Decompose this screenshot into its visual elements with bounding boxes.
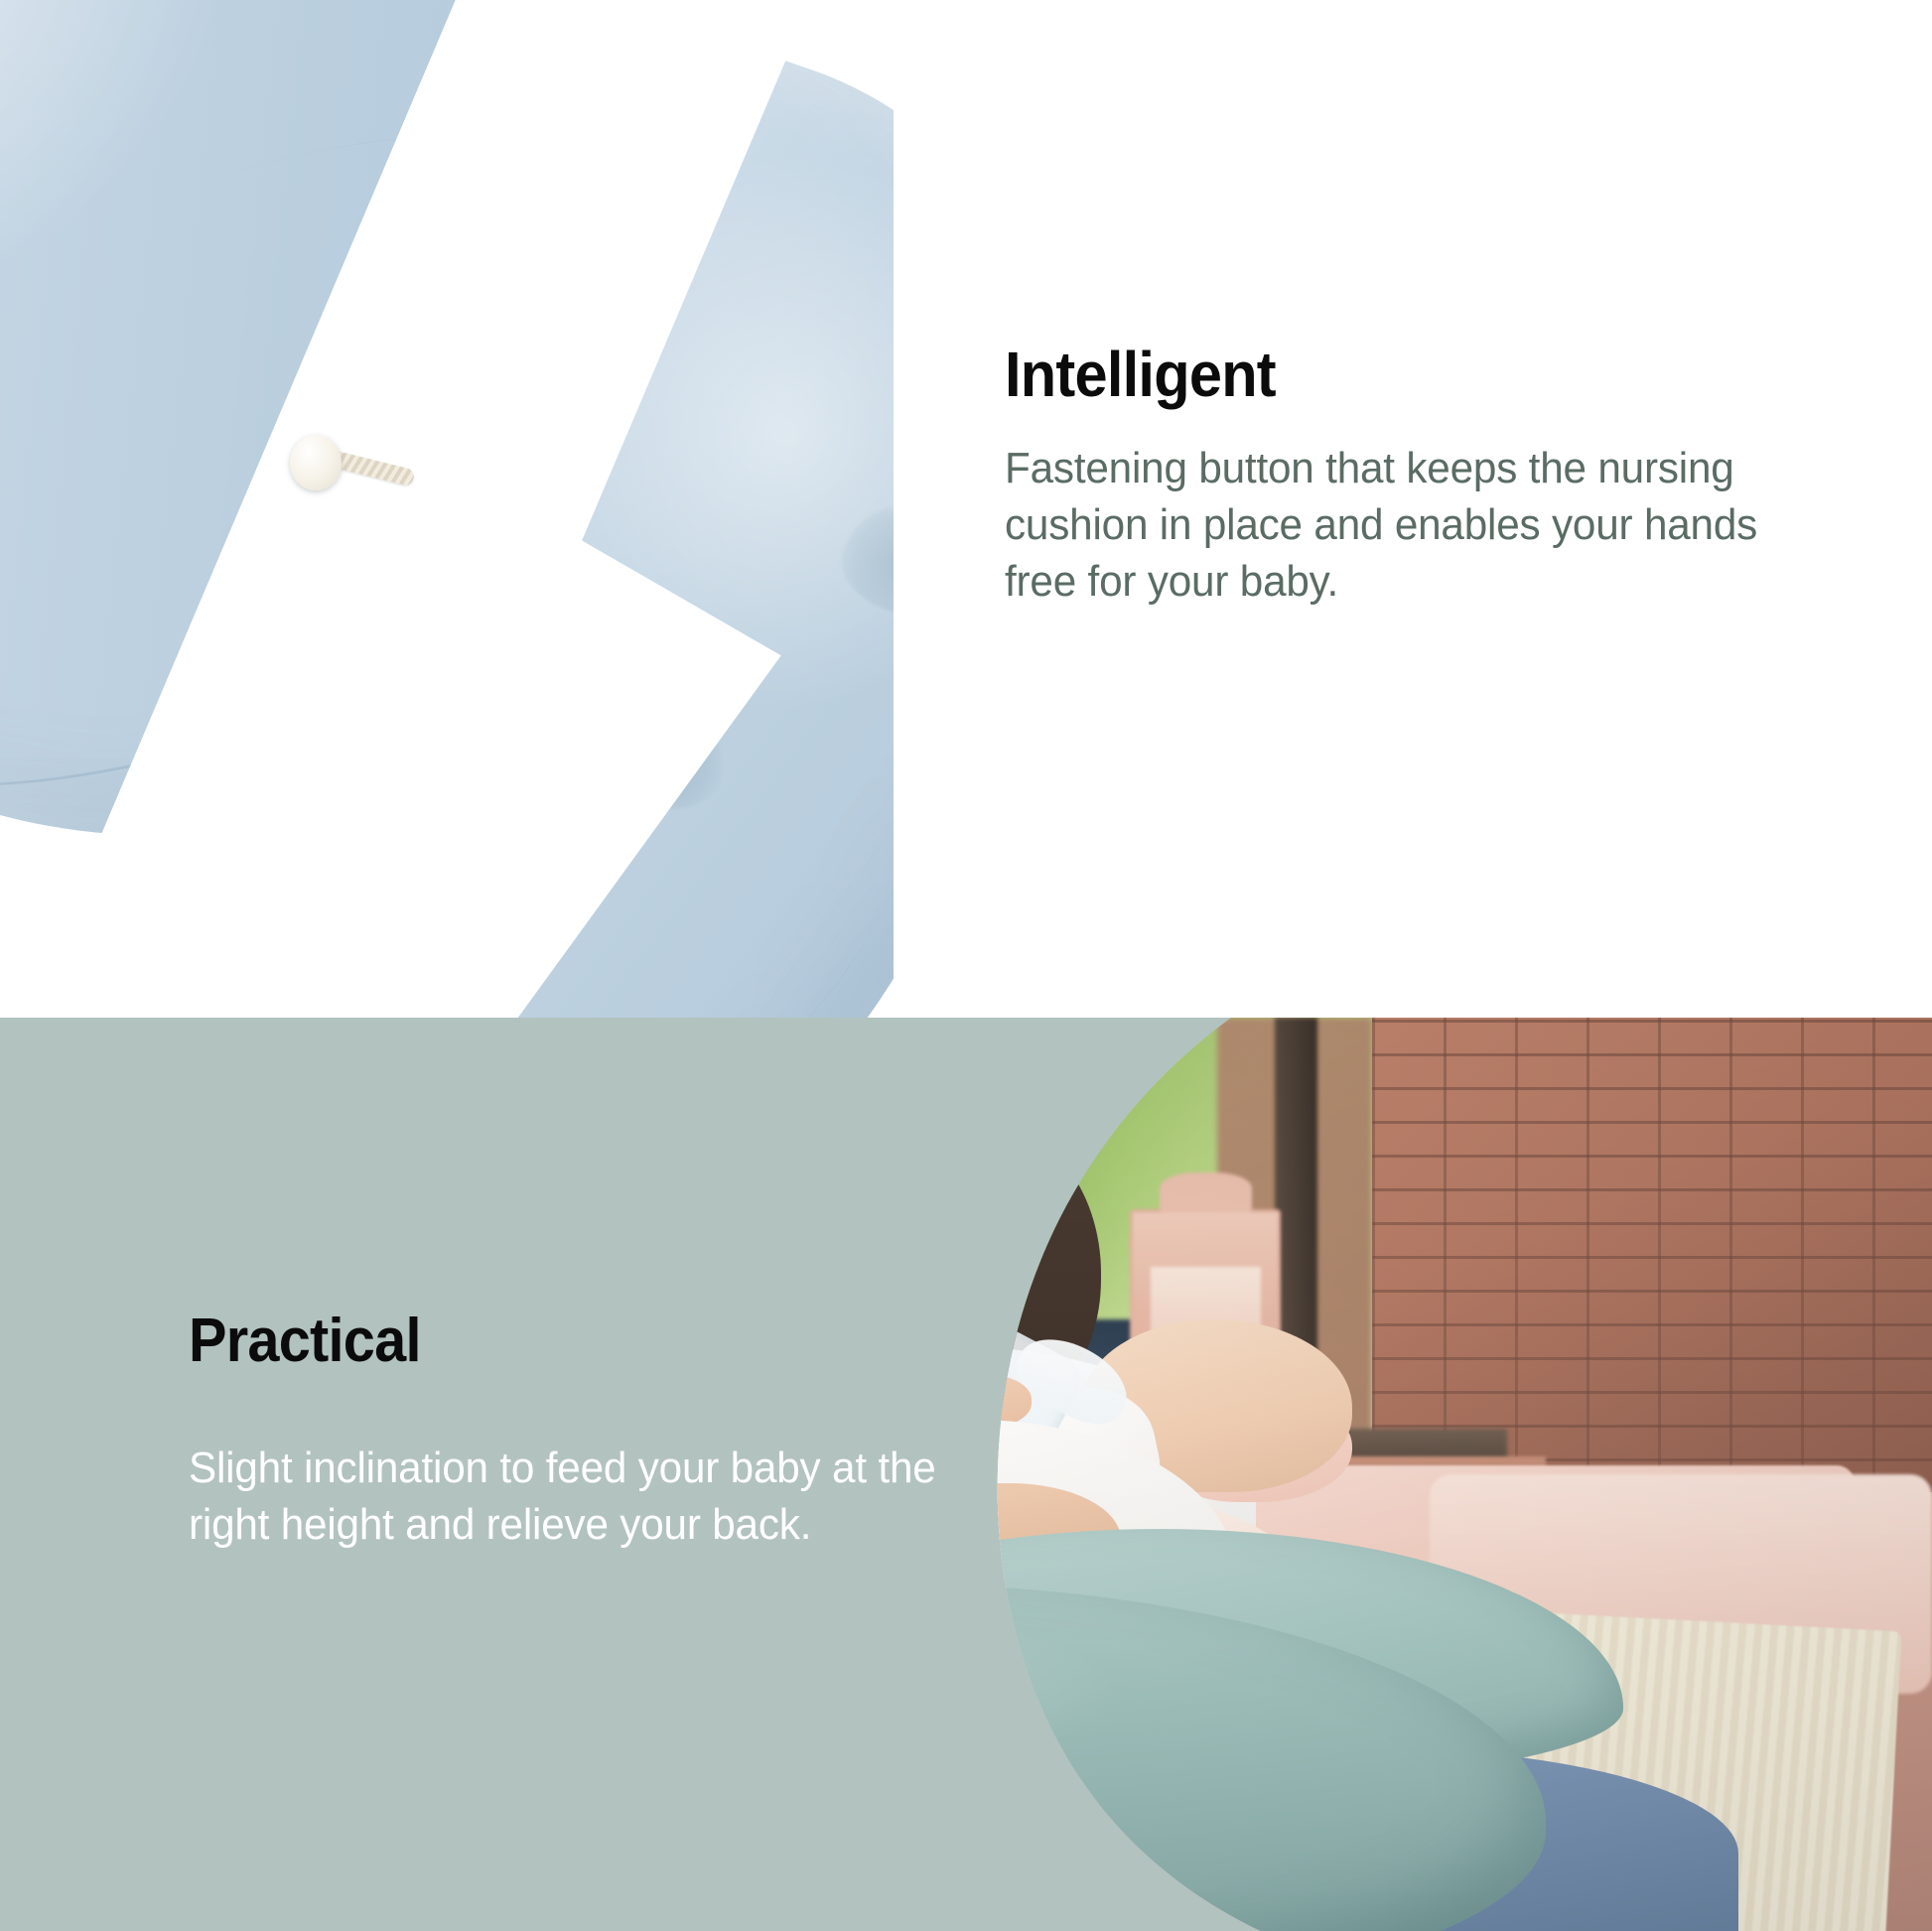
baby-foot [599, 1629, 695, 1684]
intelligent-body-text: Fastening button that keeps the nursing … [1005, 440, 1757, 611]
fastening-button-assembly [290, 435, 419, 492]
mother-leg [270, 1858, 889, 1931]
intelligent-heading: Intelligent [1005, 343, 1734, 406]
nursing-cushion-fastening-button-closeup-image [0, 0, 894, 1018]
baby-legs [637, 1584, 946, 1703]
nursing-cushion-seam [283, 1903, 1135, 1931]
fastening-button [290, 435, 342, 490]
product-feature-page: Intelligent Fastening button that keeps … [0, 0, 1932, 1931]
textured-sofa-seat [0, 1620, 772, 1821]
nursing-cushion-end-nub [87, 1712, 261, 1849]
practical-heading: Practical [189, 1310, 927, 1372]
practical-text-block: Practical Slight inclination to feed you… [189, 1310, 983, 1553]
intelligent-text-block: Intelligent Fastening button that keeps … [1005, 343, 1789, 611]
dark-sofa-arm [0, 1694, 580, 1931]
decor-bottle-neck [935, 1218, 982, 1273]
mother-ring [927, 1685, 974, 1714]
section-practical: Practical Slight inclination to feed you… [0, 1018, 1932, 1931]
section-intelligent: Intelligent Fastening button that keeps … [0, 0, 1932, 1018]
practical-body-text: Slight inclination to feed your baby at … [189, 1440, 951, 1553]
baby-foot [541, 1666, 626, 1716]
